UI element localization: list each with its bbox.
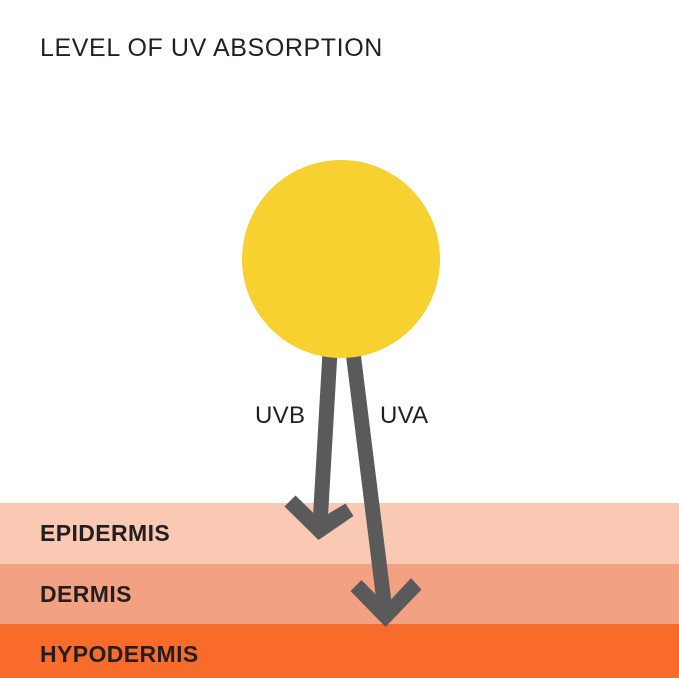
page-title: LEVEL OF UV ABSORPTION [40, 34, 383, 62]
uvb-label: UVB [255, 402, 305, 429]
skin-layer-label-epidermis: EPIDERMIS [40, 520, 170, 546]
skin-layer-label-dermis: DERMIS [40, 581, 132, 607]
uva-label: UVA [380, 402, 428, 429]
sun-icon [242, 160, 440, 358]
uv-absorption-diagram: LEVEL OF UV ABSORPTION UVB UVA EPIDERMIS… [0, 0, 679, 678]
skin-layer-label-hypodermis: HYPODERMIS [40, 641, 199, 667]
uv-absorption-infographic: LEVEL OF UV ABSORPTION UVB UVA EPIDERMIS… [0, 0, 679, 678]
